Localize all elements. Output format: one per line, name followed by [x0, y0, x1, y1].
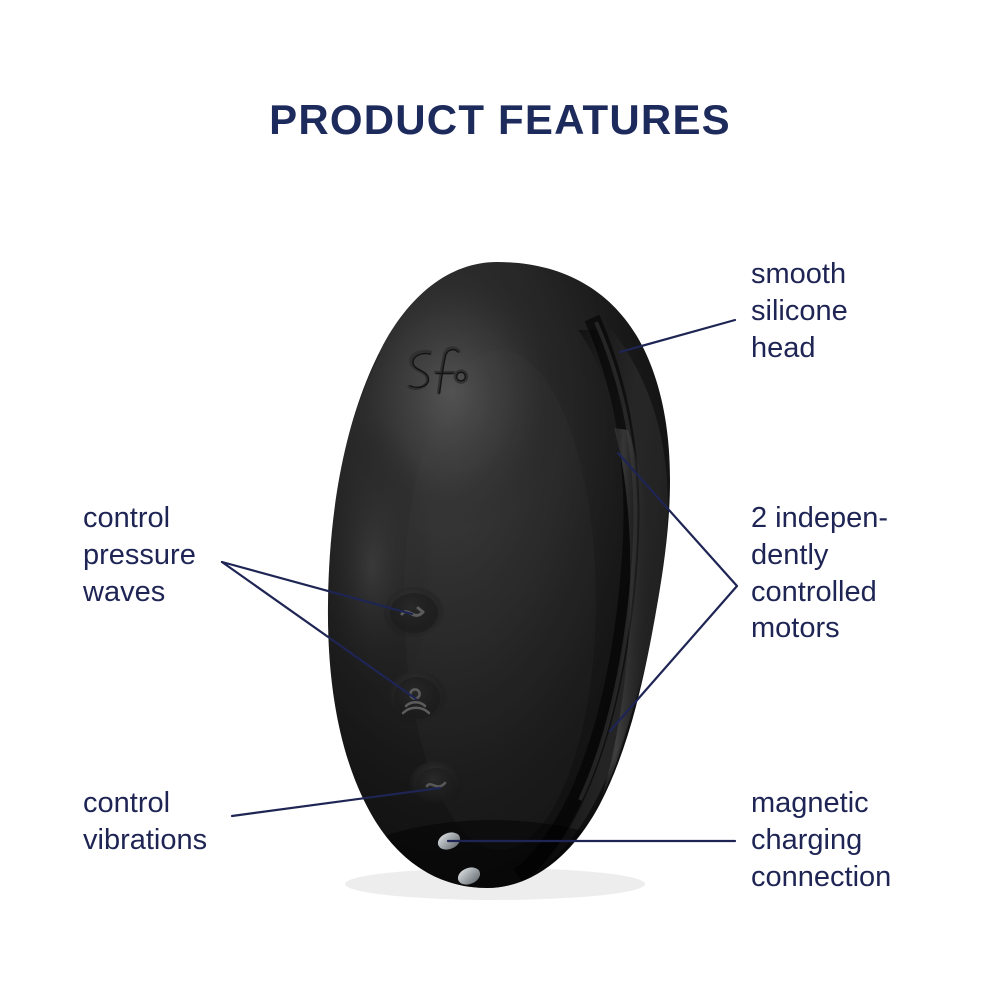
- vibration-button[interactable]: [409, 761, 463, 809]
- callout-two-independently-controlled-motors: 2 indepen- dently controlled motors: [751, 500, 981, 647]
- callout-smooth-silicone-head: smooth silicone head: [751, 256, 971, 366]
- callout-control-vibrations: control vibrations: [83, 785, 313, 859]
- pressure-wave-button-mode[interactable]: [387, 671, 447, 725]
- pressure-wave-button-up[interactable]: [384, 587, 444, 639]
- callout-magnetic-charging-connection: magnetic charging connection: [751, 785, 981, 895]
- callout-control-pressure-waves: control pressure waves: [83, 500, 303, 610]
- product-features-diagram: PRODUCT FEATURES: [0, 0, 1000, 1000]
- device-bottom-shade: [312, 820, 672, 980]
